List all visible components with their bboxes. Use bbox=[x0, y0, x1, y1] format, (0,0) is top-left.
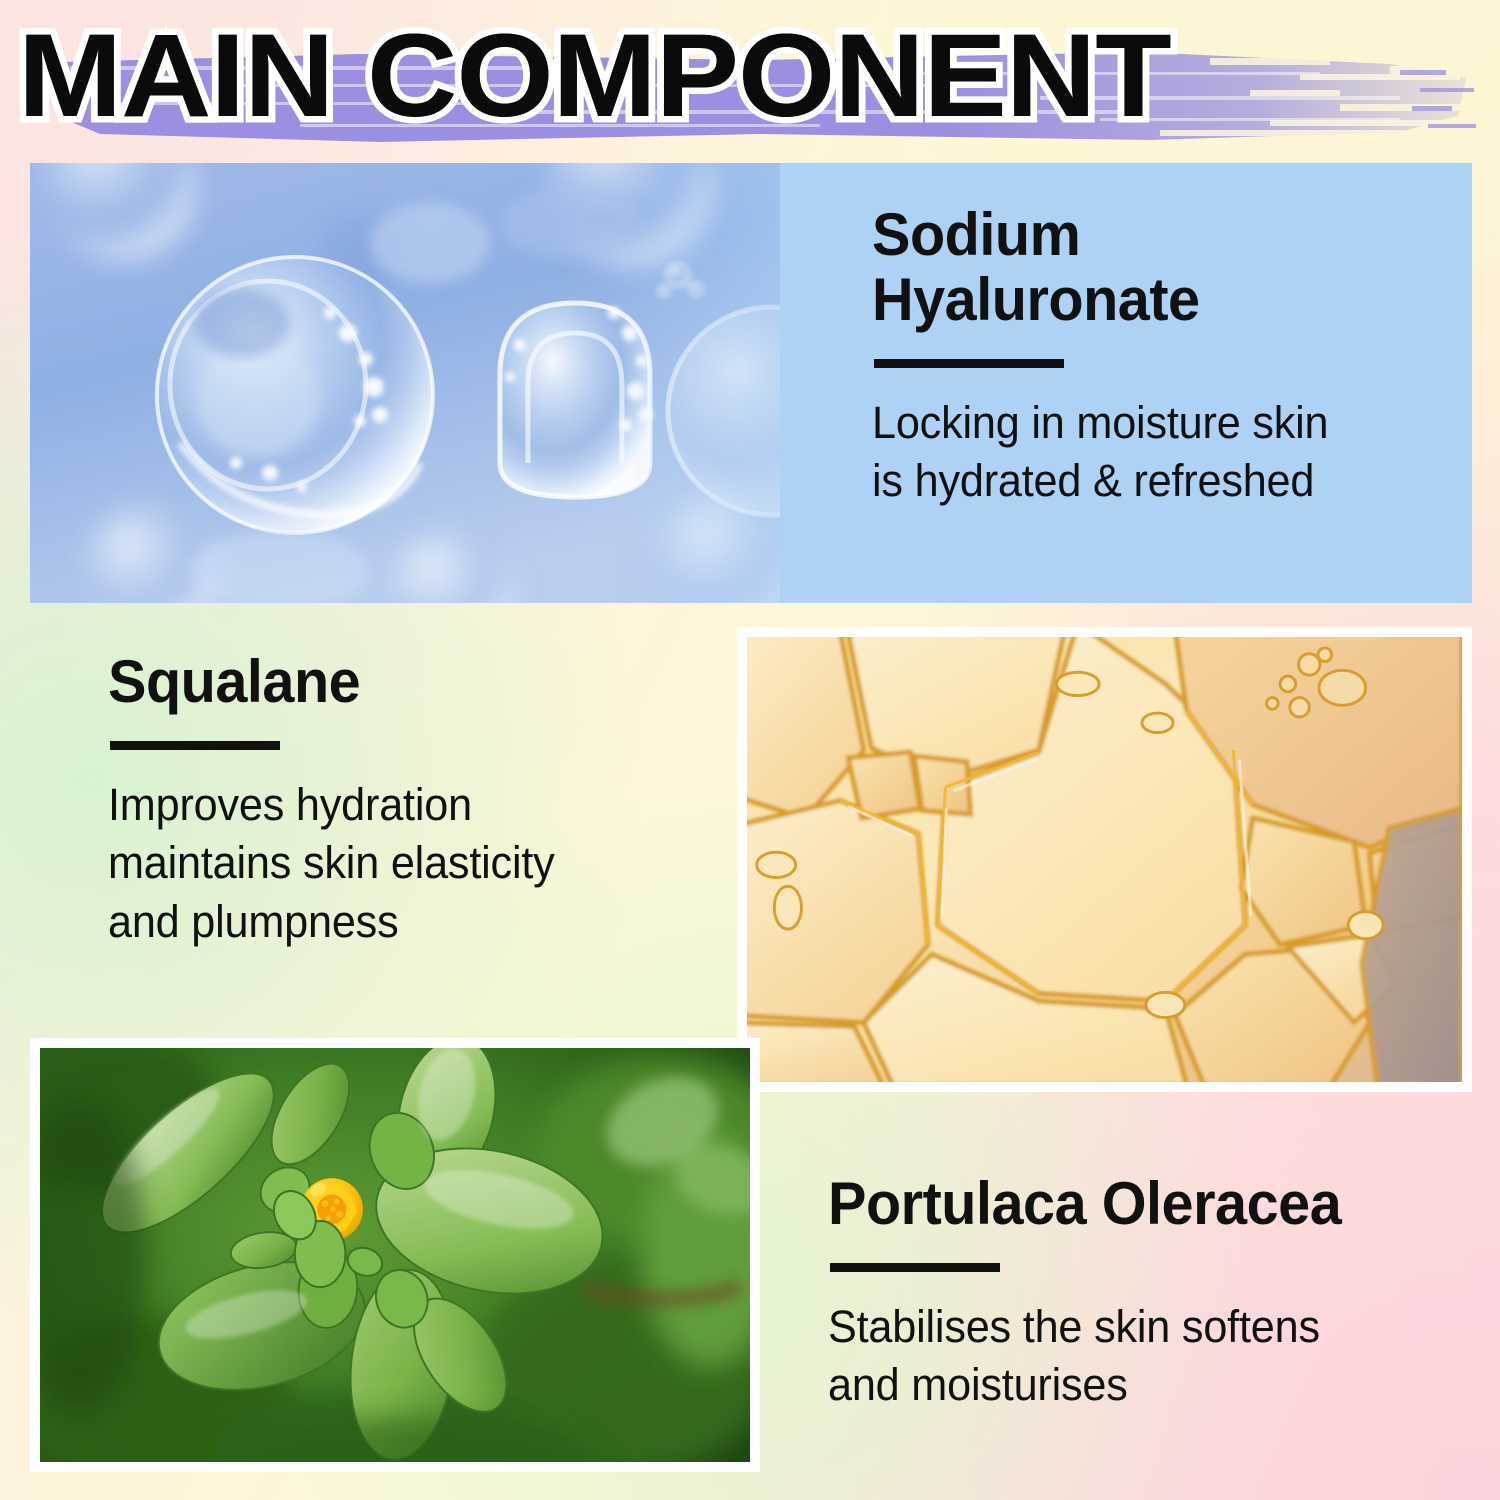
description-line: maintains skin elasticity bbox=[108, 834, 694, 893]
squalane-text-block: Squalane Improves hydration maintains sk… bbox=[108, 650, 718, 951]
ingredient-description-squalane: Improves hydration maintains skin elasti… bbox=[108, 776, 694, 952]
description-line: is hydrated & refreshed bbox=[872, 452, 1429, 511]
description-line: and plumpness bbox=[108, 893, 694, 952]
purslane-plant-photo bbox=[40, 1048, 750, 1462]
ingredient-name-squalane: Squalane bbox=[108, 650, 694, 715]
description-line: Improves hydration bbox=[108, 776, 694, 835]
ingredient-card-sodium-hyaluronate: Sodium Hyaluronate Locking in moisture s… bbox=[30, 163, 1472, 603]
infographic-page: MAIN COMPONENT MAIN COMPONENT bbox=[0, 0, 1500, 1500]
divider-rule bbox=[830, 1263, 1000, 1272]
divider-rule bbox=[110, 741, 280, 750]
description-line: Locking in moisture skin bbox=[872, 394, 1429, 453]
golden-oil-bubbles-photo bbox=[747, 637, 1462, 1082]
ingredient-description-portulaca-oleracea: Stabilises the skin softens and moisturi… bbox=[828, 1298, 1442, 1415]
description-line: Stabilises the skin softens bbox=[828, 1298, 1442, 1357]
ingredient-card-portulaca-oleracea bbox=[30, 1038, 760, 1472]
ingredient-description-sodium-hyaluronate: Locking in moisture skin is hydrated & r… bbox=[872, 394, 1429, 511]
sodium-hyaluronate-text-block: Sodium Hyaluronate Locking in moisture s… bbox=[872, 203, 1452, 511]
description-line: and moisturises bbox=[828, 1356, 1442, 1415]
ingredient-name-sodium-hyaluronate: Sodium Hyaluronate bbox=[872, 203, 1429, 333]
heading-line: Portulaca Oleracea bbox=[828, 1172, 1442, 1237]
ingredient-card-squalane bbox=[737, 627, 1472, 1092]
ingredient-name-portulaca-oleracea: Portulaca Oleracea bbox=[828, 1172, 1442, 1237]
page-title: MAIN COMPONENT bbox=[18, 6, 1500, 146]
title-banner: MAIN COMPONENT MAIN COMPONENT bbox=[0, 0, 1500, 163]
portulaca-oleracea-text-block: Portulaca Oleracea Stabilises the skin s… bbox=[828, 1172, 1468, 1415]
divider-rule bbox=[874, 359, 1064, 368]
heading-line: Squalane bbox=[108, 650, 694, 715]
heading-line: Sodium bbox=[872, 203, 1429, 268]
heading-line: Hyaluronate bbox=[872, 268, 1429, 333]
